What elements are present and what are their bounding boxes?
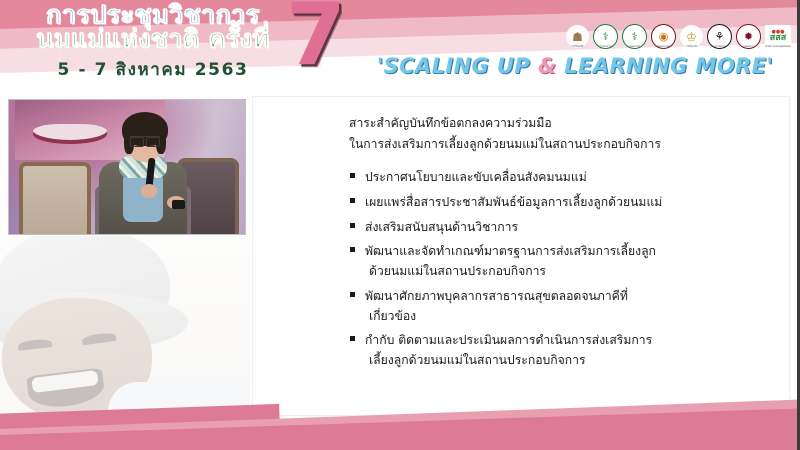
edition-number: 7 xyxy=(286,0,344,78)
logo-nurse-council: ⚘ สภาการพยาบาล xyxy=(707,24,732,49)
logo-thaihealth-sss-caption: สำนักงานกองทุนสนับสนุน xyxy=(765,46,791,48)
child-photo-watermark xyxy=(0,236,250,428)
square-bullet-icon xyxy=(350,336,355,341)
chair-left xyxy=(19,162,91,234)
logo-royal-seal-glyph: ☗ xyxy=(572,31,583,43)
square-bullet-icon xyxy=(350,173,355,178)
conference-title-block: การประชุมวิชาการ นมแม่แห่งชาติ ครั้งที่ … xyxy=(18,2,288,83)
tagline-ampersand: & xyxy=(538,54,557,78)
square-bullet-icon xyxy=(350,223,355,228)
logo-medical-council-glyph: ✹ xyxy=(744,31,753,42)
logo-thaihealth-sss: ●●● สสส สำนักงานกองทุนสนับสนุน xyxy=(765,25,791,48)
logo-royal-crest-glyph: ♔ xyxy=(686,31,697,43)
conference-title-line2: นมแม่แห่งชาติ ครั้งที่ xyxy=(18,26,288,53)
logo-royal-seal-caption: ราชวิทยาลัย xyxy=(566,46,589,48)
logo-royal-seal: ☗ ราชวิทยาลัย xyxy=(566,25,589,48)
content-panel: สาระสำคัญบันทึกข้อตกลงความร่วมมือ ในการส… xyxy=(252,96,790,416)
speaker-photo xyxy=(9,100,245,234)
sponsor-logo-row: ☗ ราชวิทยาลัย ⚕ กระทรวงสาธารณสุข ⚕ กรมอน… xyxy=(566,24,791,49)
bullet-text-line1: กำกับ ติดตามและประเมินผลการดำเนินการส่งเ… xyxy=(365,333,652,347)
presentation-clicker xyxy=(172,200,185,209)
bullet-text-line1: พัฒนาศักยภาพบุคลากรสาธารณสุขตลอดจนภาคีที… xyxy=(365,289,628,303)
tagline-prefix: 'SCALING UP xyxy=(377,54,538,78)
logo-ministry-of-public-health-caption: กระทรวงสาธารณสุข xyxy=(594,46,617,49)
bullet-text-line1: เผยแพร่สื่อสารประชาสัมพันธ์ข้อมูลการเลี้… xyxy=(365,195,662,209)
presentation-slide: การประชุมวิชาการ นมแม่แห่งชาติ ครั้งที่ … xyxy=(0,0,800,450)
logo-medical-council: ✹ แพทยสภา xyxy=(736,24,761,49)
list-item: ประกาศนโยบายและขับเคลื่อนสังคมนมแม่ xyxy=(349,168,771,188)
logo-nurse-council-glyph: ⚘ xyxy=(715,31,725,42)
tagline-suffix: LEARNING MORE' xyxy=(557,54,774,78)
content-bullet-list: ประกาศนโยบายและขับเคลื่อนสังคมนมแม่ เผยแ… xyxy=(349,168,771,371)
speaker-shirt xyxy=(123,172,163,222)
logo-thaihealth-sss-glyph: สสส xyxy=(770,34,786,43)
logo-ministry-of-public-health-glyph: ⚕ xyxy=(603,31,609,42)
list-item: เผยแพร่สื่อสารประชาสัมพันธ์ข้อมูลการเลี้… xyxy=(349,193,771,213)
content-heading-line2: ในการส่งเสริมการเลี้ยงลูกด้วยนมแม่ในสถาน… xyxy=(349,134,771,155)
square-bullet-icon xyxy=(350,292,355,297)
list-item: ส่งเสริมสนับสนุนด้านวิชาการ xyxy=(349,218,771,238)
logo-department-of-health-glyph: ⚕ xyxy=(632,31,638,42)
bullet-text-line2: เกี่ยวข้อง xyxy=(365,307,771,327)
bullet-text-line1: ส่งเสริมสนับสนุนด้านวิชาการ xyxy=(365,220,518,234)
conference-date: 5 - 7 สิงหาคม 2563 xyxy=(18,56,288,83)
logo-ministry-of-public-health: ⚕ กระทรวงสาธารณสุข xyxy=(593,24,618,49)
bullet-text-line1: พัฒนาและจัดทำเกณฑ์มาตรฐานการส่งเสริมการเ… xyxy=(365,244,656,258)
list-item: พัฒนาและจัดทำเกณฑ์มาตรฐานการส่งเสริมการเ… xyxy=(349,242,771,282)
bullet-text-line1: ประกาศนโยบายและขับเคลื่อนสังคมนมแม่ xyxy=(365,170,587,184)
logo-royal-crest: ♔ ราชวิทยาลัย xyxy=(680,25,703,48)
bullet-text-line2: เลี้ยงลูกด้วยนมแม่ในสถานประกอบกิจการ xyxy=(365,351,771,371)
logo-thai-pediatric-society-caption: สมาคมกุมารแพทย์ xyxy=(652,46,675,49)
logo-nurse-council-caption: สภาการพยาบาล xyxy=(708,46,731,49)
logo-thai-pediatric-society-glyph: ◉ xyxy=(659,31,669,42)
list-item: กำกับ ติดตามและประเมินผลการดำเนินการส่งเ… xyxy=(349,331,771,371)
logo-department-of-health: ⚕ กรมอนามัย xyxy=(622,24,647,49)
square-bullet-icon xyxy=(350,247,355,252)
speaker-eyeglasses xyxy=(130,136,160,145)
list-item: พัฒนาศักยภาพบุคลากรสาธารณสุขตลอดจนภาคีที… xyxy=(349,287,771,327)
conference-tagline: 'SCALING UP & LEARNING MORE' xyxy=(360,54,790,78)
content-heading: สาระสำคัญบันทึกข้อตกลงความร่วมมือ ในการส… xyxy=(349,113,771,155)
logo-royal-crest-caption: ราชวิทยาลัย xyxy=(680,46,703,48)
logo-thai-pediatric-society: ◉ สมาคมกุมารแพทย์ xyxy=(651,24,676,49)
content-heading-line1: สาระสำคัญบันทึกข้อตกลงความร่วมมือ xyxy=(349,113,771,134)
bullet-text-line2: ด้วยนมแม่ในสถานประกอบกิจการ xyxy=(365,262,771,282)
header-banner: การประชุมวิชาการ นมแม่แห่งชาติ ครั้งที่ … xyxy=(0,0,800,96)
logo-department-of-health-caption: กรมอนามัย xyxy=(623,46,646,49)
speaker-hand-left xyxy=(141,184,157,198)
square-bullet-icon xyxy=(350,198,355,203)
logo-medical-council-caption: แพทยสภา xyxy=(737,46,760,49)
